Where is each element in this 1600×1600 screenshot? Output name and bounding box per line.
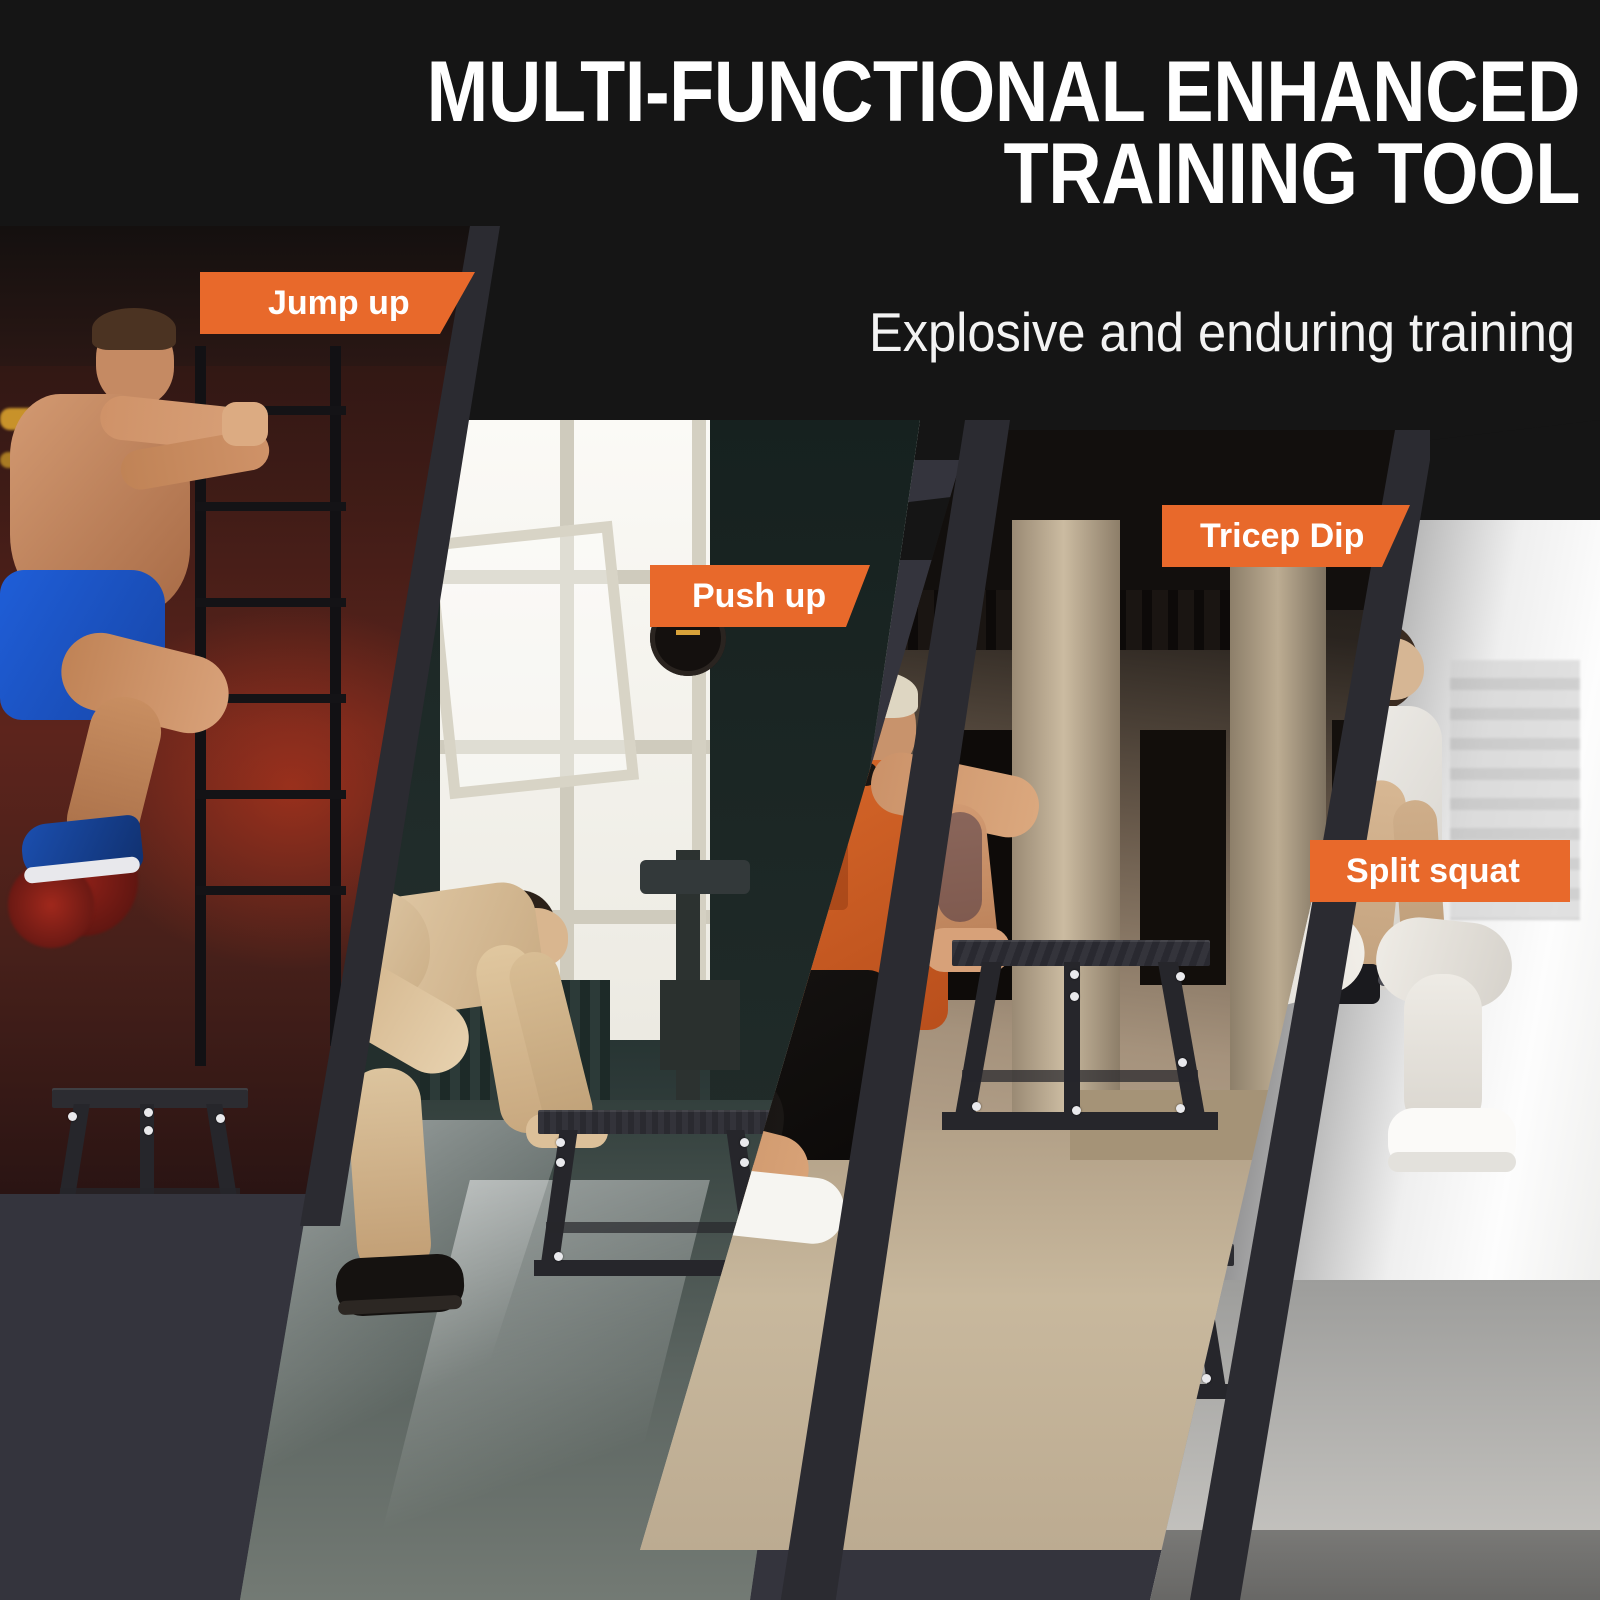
label-split-squat-text: Split squat [1346, 852, 1520, 891]
athlete-hands [222, 402, 268, 446]
window-open-sash [423, 521, 639, 799]
label-jump-up-text: Jump up [268, 284, 410, 323]
gym-machine-body [660, 980, 740, 1070]
product-banner: MULTI-FUNCTIONAL ENHANCED TRAINING TOOL … [0, 0, 1600, 1600]
wall-bar-rung [196, 886, 346, 895]
wall-clock-hand [676, 630, 700, 635]
plyo-box-tricep-dip [938, 940, 1218, 1160]
label-push-up: Push up [650, 565, 870, 627]
label-tricep-dip: Tricep Dip [1162, 505, 1410, 567]
label-push-up-text: Push up [692, 577, 826, 616]
wall-bar-rung [196, 790, 346, 799]
athlete-shoe-sole [1388, 1152, 1516, 1172]
wall-bar-rung [196, 598, 346, 607]
label-tricep-dip-text: Tricep Dip [1200, 517, 1364, 556]
page-title: MULTI-FUNCTIONAL ENHANCED TRAINING TOOL [221, 52, 1580, 215]
gym-machine-arm [640, 860, 750, 894]
page-title-line-2: TRAINING TOOL [221, 134, 1580, 216]
plyo-box-jump-up [44, 1088, 254, 1194]
wall-bar-rung [196, 502, 346, 511]
label-split-squat: Split squat [1310, 840, 1570, 902]
label-jump-up: Jump up [200, 272, 475, 334]
